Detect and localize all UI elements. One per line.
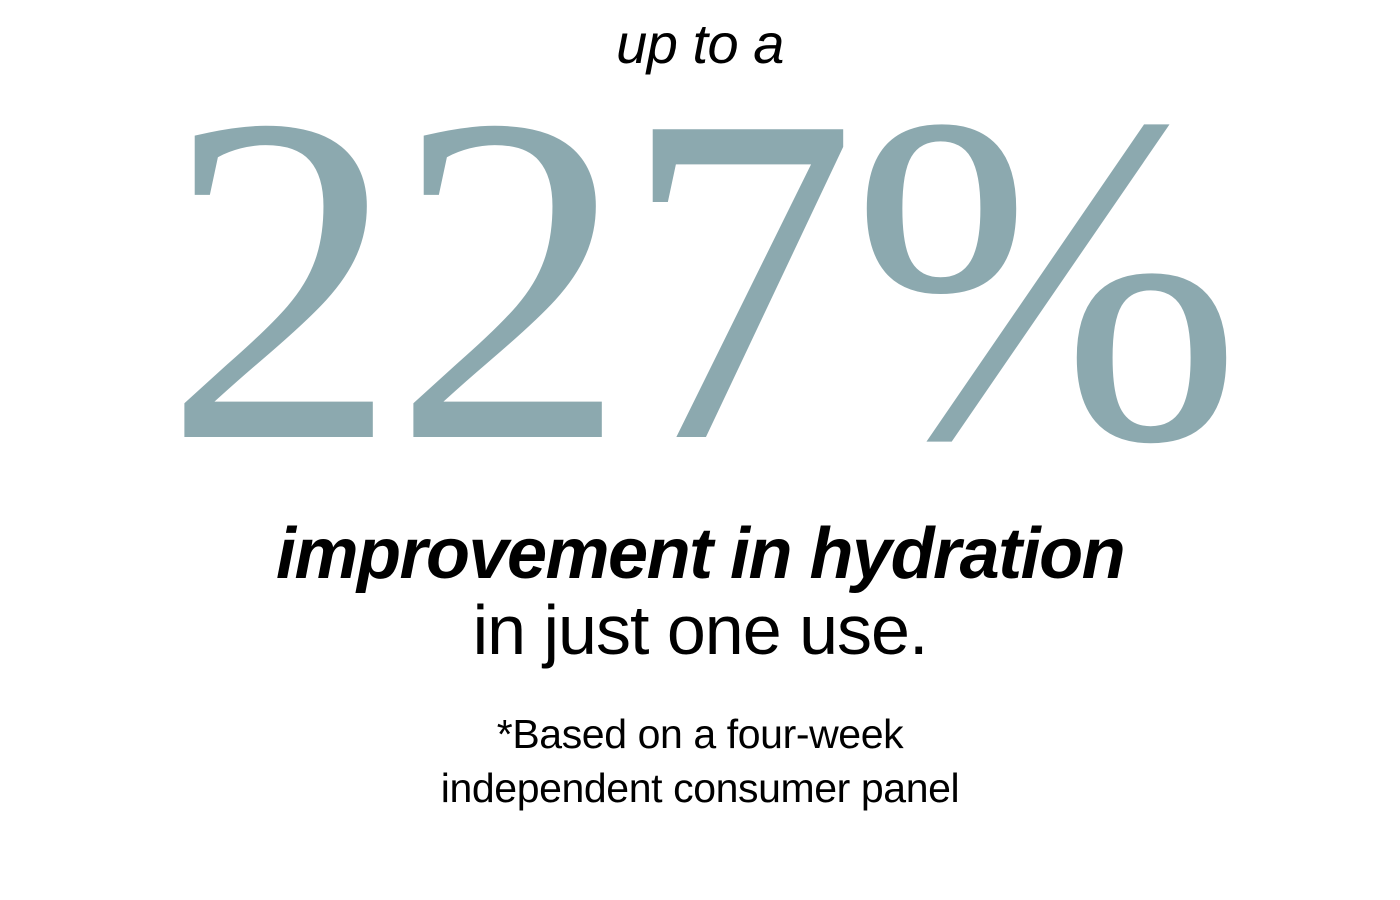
footnote-line-one: *Based on a four-week xyxy=(0,707,1400,761)
headline-block: improvement in hydration in just one use… xyxy=(0,518,1400,670)
headline-line-one: improvement in hydration xyxy=(0,518,1400,591)
headline-line-two: in just one use. xyxy=(0,591,1400,669)
hydration-stat-card: up to a 227% improvement in hydration in… xyxy=(0,0,1400,900)
hero-percentage-figure: 227% xyxy=(0,72,1400,486)
footnote-block: *Based on a four-week independent consum… xyxy=(0,707,1400,815)
footnote-line-two: independent consumer panel xyxy=(0,761,1400,815)
